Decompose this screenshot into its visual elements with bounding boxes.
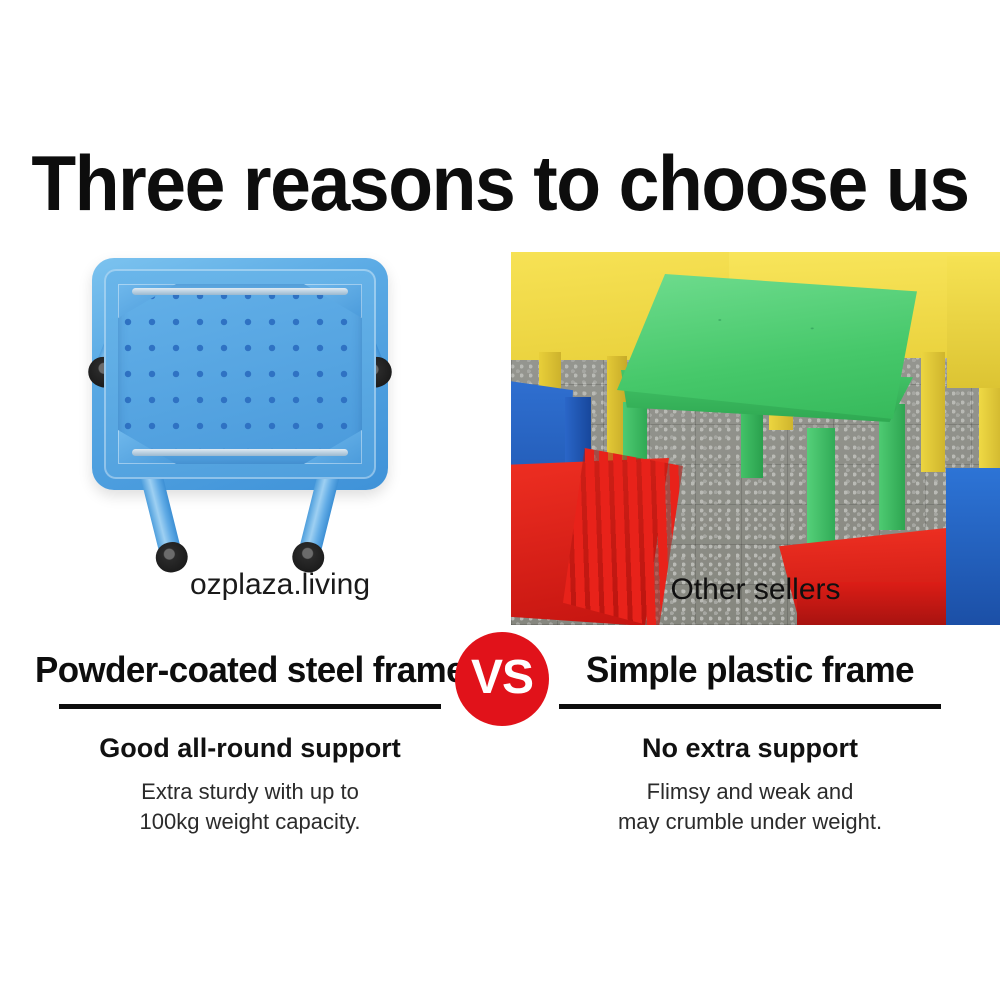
vs-badge-label: VS [471, 654, 533, 702]
competitor-product-image: Other sellers [511, 252, 1000, 625]
yellow-chair [947, 256, 1000, 388]
vs-badge: VS [455, 632, 549, 726]
ours-divider [59, 704, 441, 709]
copy-column-ours: Powder-coated steel frame Good all-round… [0, 648, 500, 908]
our-brand-caption: ozplaza.living [60, 568, 500, 602]
theirs-divider [559, 704, 941, 709]
green-table-leg-2 [741, 408, 763, 478]
competitor-caption: Other sellers [511, 573, 1000, 607]
ours-body-line-2: 100kg weight capacity. [140, 809, 361, 834]
theirs-heading: Simple plastic frame [508, 648, 993, 692]
our-product-image: ozplaza.living [60, 240, 500, 630]
comparison-media-row: ozplaza.living Other sellers VS [0, 240, 1000, 630]
ours-body-line-1: Extra sturdy with up to [141, 779, 359, 804]
theirs-body-line-1: Flimsy and weak and [647, 779, 854, 804]
theirs-subheading: No extra support [500, 731, 1000, 765]
theirs-body-line-2: may crumble under weight. [618, 809, 882, 834]
copy-column-theirs: Simple plastic frame No extra support Fl… [500, 648, 1000, 908]
ours-subheading: Good all-round support [0, 731, 500, 765]
table-dimple-panel [118, 284, 362, 464]
ours-body: Extra sturdy with up to 100kg weight cap… [0, 777, 500, 837]
crayon-scribble-marks [661, 292, 871, 362]
page-title: Three reasons to choose us [30, 142, 970, 224]
ours-heading: Powder-coated steel frame [8, 648, 493, 692]
yellow-table-right-leg-2 [921, 352, 945, 472]
theirs-body: Flimsy and weak and may crumble under we… [500, 777, 1000, 837]
steel-rail-bottom [132, 449, 348, 456]
blue-table-underside [92, 258, 388, 490]
green-table-leg-3 [879, 404, 905, 530]
steel-rail-top [132, 288, 348, 295]
